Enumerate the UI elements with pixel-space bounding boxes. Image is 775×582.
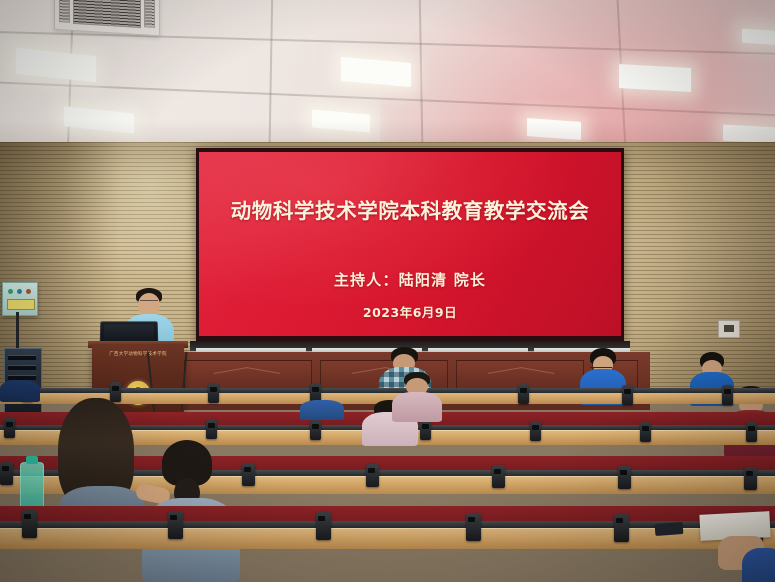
seat-bracket[interactable] (518, 384, 529, 404)
seat-bracket[interactable] (206, 419, 217, 439)
seat-bracket[interactable] (744, 467, 757, 490)
glasses-icon (140, 300, 158, 305)
seat-bracket[interactable] (466, 513, 481, 541)
mobile-phone[interactable] (655, 522, 684, 536)
slide-title: 动物科学技术学院本科教育教学交流会 (231, 194, 590, 224)
slide-date: 2023年6月9日 (363, 302, 457, 321)
seat-bracket[interactable] (640, 422, 651, 442)
ac-vent-icon (54, 0, 160, 36)
lecture-hall-photo: 动物科学技术学院本科教育教学交流会 主持人：陆阳清 院长 2023年6月9日 (0, 0, 775, 582)
cable (16, 312, 19, 352)
seat-bracket[interactable] (722, 385, 733, 405)
seat-bracket[interactable] (310, 420, 321, 440)
seat-bracket[interactable] (622, 385, 633, 405)
seat-bracket[interactable] (242, 463, 255, 486)
led-screen: 动物科学技术学院本科教育教学交流会 主持人：陆阳清 院长 2023年6月9日 (199, 152, 621, 336)
seat-bracket[interactable] (420, 420, 431, 440)
seat-bracket[interactable] (168, 511, 183, 539)
seat-bracket[interactable] (366, 464, 379, 487)
wall-outlet-panel[interactable] (718, 320, 740, 338)
podium-sign-text: 广西大学动物科学技术学院 (98, 351, 178, 359)
seat-bracket[interactable] (614, 514, 629, 542)
av-control-box[interactable] (2, 282, 38, 316)
led-screen-frame: 动物科学技术学院本科教育教学交流会 主持人：陆阳清 院长 2023年6月9日 (196, 148, 624, 341)
seat-bracket[interactable] (618, 466, 631, 489)
ceiling-light (742, 29, 775, 46)
glasses-icon (590, 363, 612, 368)
seat-bracket[interactable] (22, 510, 37, 538)
seat-bracket[interactable] (746, 422, 757, 442)
seat-bracket[interactable] (0, 462, 13, 485)
slide-host-line: 主持人：陆阳清 院长 (334, 269, 486, 290)
seat-bracket[interactable] (4, 418, 15, 438)
seat-bracket[interactable] (530, 421, 541, 441)
seat-bracket[interactable] (492, 465, 505, 488)
ceiling-light (619, 64, 691, 92)
seat-bracket[interactable] (208, 383, 219, 403)
seat-bracket[interactable] (316, 512, 331, 540)
seat-bracket[interactable] (110, 382, 121, 402)
desk-row-front (0, 548, 775, 582)
